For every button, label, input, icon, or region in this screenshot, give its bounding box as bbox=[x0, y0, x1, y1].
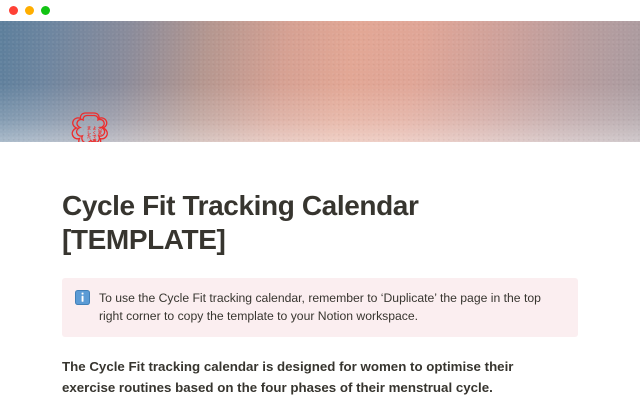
window-titlebar bbox=[0, 0, 640, 21]
minimize-button[interactable] bbox=[25, 6, 34, 15]
page-title[interactable]: Cycle Fit Tracking Calendar [TEMPLATE] bbox=[62, 142, 578, 257]
close-button[interactable] bbox=[9, 6, 18, 15]
page-content: Cycle Fit Tracking Calendar [TEMPLATE] T… bbox=[0, 142, 640, 400]
maximize-button[interactable] bbox=[41, 6, 50, 15]
callout-block[interactable]: To use the Cycle Fit tracking calendar, … bbox=[62, 278, 578, 337]
intro-paragraph: The Cycle Fit tracking calendar is desig… bbox=[62, 357, 562, 400]
callout-text: To use the Cycle Fit tracking calendar, … bbox=[99, 289, 564, 325]
svg-text:ました: ました bbox=[86, 126, 91, 141]
traffic-light-group bbox=[9, 6, 50, 15]
svg-text:大変: 大変 bbox=[97, 125, 102, 136]
info-icon bbox=[75, 290, 90, 305]
app-window: 大変 よくで書 ました Cycle Fit Tracking Calendar … bbox=[0, 0, 640, 400]
